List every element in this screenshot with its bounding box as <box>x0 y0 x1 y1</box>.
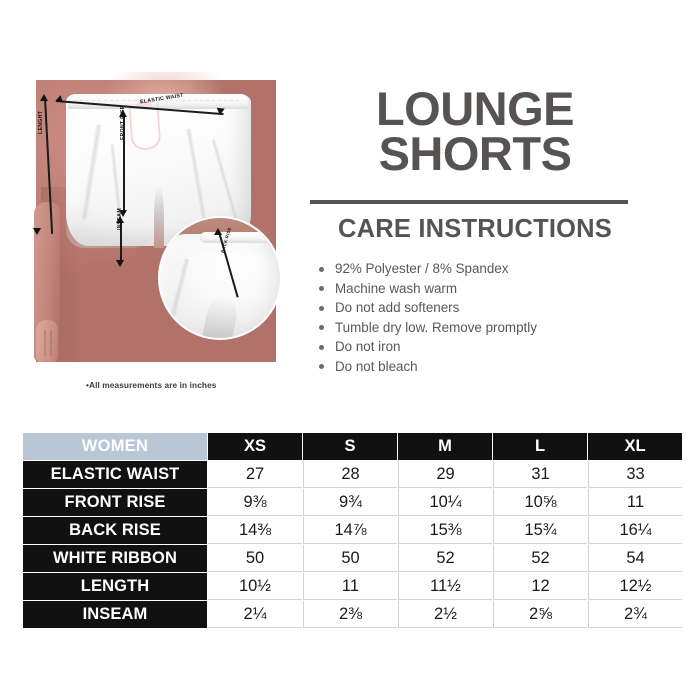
cell-back-rise-s: 14⅞ <box>303 517 397 544</box>
cell-back-rise-l: 15¾ <box>493 517 587 544</box>
care-item: 92% Polyester / 8% Spandex <box>316 259 646 279</box>
cell-elastic-waist-xl: 33 <box>588 461 682 488</box>
table-header-size-m: M <box>398 433 492 460</box>
cell-white-ribbon-xs: 50 <box>208 545 302 572</box>
drawstring-tie <box>128 103 161 151</box>
measurement-footnote: •All measurements are in inches <box>86 380 217 390</box>
care-item: Do not iron <box>316 337 646 357</box>
title-line-1: LOUNGE <box>310 86 640 131</box>
table-row: LENGTH 10½ 11 11½ 12 12½ <box>23 573 682 600</box>
cell-front-rise-l: 10⅝ <box>493 489 587 516</box>
cell-length-m: 11½ <box>398 573 492 600</box>
cell-white-ribbon-s: 50 <box>303 545 397 572</box>
row-label-white-ribbon: WHITE RIBBON <box>23 545 207 572</box>
cell-elastic-waist-xs: 27 <box>208 461 302 488</box>
cell-front-rise-xl: 11 <box>588 489 682 516</box>
cell-white-ribbon-m: 52 <box>398 545 492 572</box>
arrow-head-icon <box>40 94 48 101</box>
table-row: BACK RISE 14⅜ 14⅞ 15⅜ 15¾ 16¼ <box>23 517 682 544</box>
care-item: Machine wash warm <box>316 279 646 299</box>
table-header-size-l: L <box>493 433 587 460</box>
cell-length-xl: 12½ <box>588 573 682 600</box>
table-header-size-s: S <box>303 433 397 460</box>
measure-label-inseam: INSEAM <box>117 208 123 230</box>
row-label-inseam: INSEAM <box>23 601 207 628</box>
table-header-women: WOMEN <box>23 433 207 460</box>
measure-label-front-rise: FRONT RISE <box>120 106 126 140</box>
cell-inseam-m: 2½ <box>398 601 492 628</box>
care-item: Tumble dry low. Remove promptly <box>316 318 646 338</box>
care-item: Do not bleach <box>316 357 646 377</box>
cell-elastic-waist-s: 28 <box>303 461 397 488</box>
product-diagram: ELASTIC WAIST LENGHT FRONT RISE INSEAM <box>28 72 290 362</box>
inset-waistband <box>200 232 280 243</box>
table-header-size-xs: XS <box>208 433 302 460</box>
cell-white-ribbon-l: 52 <box>493 545 587 572</box>
size-chart-page: ELASTIC WAIST LENGHT FRONT RISE INSEAM <box>0 0 700 700</box>
cell-elastic-waist-l: 31 <box>493 461 587 488</box>
cell-inseam-xs: 2¼ <box>208 601 302 628</box>
row-label-elastic-waist: ELASTIC WAIST <box>23 461 207 488</box>
cell-inseam-s: 2⅜ <box>303 601 397 628</box>
product-title: LOUNGE SHORTS <box>310 86 640 176</box>
cell-back-rise-xl: 16¼ <box>588 517 682 544</box>
care-instructions-heading: CARE INSTRUCTIONS <box>310 215 640 244</box>
table-header-size-xl: XL <box>588 433 682 460</box>
table-header-row: WOMEN XS S M L XL <box>23 433 682 460</box>
model-hand <box>36 320 58 362</box>
size-chart-table: WOMEN XS S M L XL ELASTIC WAIST 27 28 29… <box>22 432 683 629</box>
arrow-head-icon <box>33 228 41 235</box>
table-row: FRONT RISE 9⅜ 9¾ 10¼ 10⅝ 11 <box>23 489 682 516</box>
cell-white-ribbon-xl: 54 <box>588 545 682 572</box>
row-label-back-rise: BACK RISE <box>23 517 207 544</box>
cell-front-rise-s: 9¾ <box>303 489 397 516</box>
cell-back-rise-xs: 14⅜ <box>208 517 302 544</box>
table-row: INSEAM 2¼ 2⅜ 2½ 2⅝ 2¾ <box>23 601 682 628</box>
cell-inseam-xl: 2¾ <box>588 601 682 628</box>
care-instructions-list: 92% Polyester / 8% Spandex Machine wash … <box>316 259 646 377</box>
arrow-head-icon <box>214 228 222 235</box>
shorts-left-leg <box>66 198 158 248</box>
product-photo: ELASTIC WAIST LENGHT FRONT RISE INSEAM <box>28 72 290 362</box>
cell-elastic-waist-m: 29 <box>398 461 492 488</box>
cell-front-rise-xs: 9⅜ <box>208 489 302 516</box>
table-row: WHITE RIBBON 50 50 52 52 54 <box>23 545 682 572</box>
row-label-length: LENGTH <box>23 573 207 600</box>
row-label-front-rise: FRONT RISE <box>23 489 207 516</box>
cell-length-xs: 10½ <box>208 573 302 600</box>
title-divider <box>310 200 628 204</box>
care-item: Do not add softeners <box>316 298 646 318</box>
table-row: ELASTIC WAIST 27 28 29 31 33 <box>23 461 682 488</box>
cell-length-l: 12 <box>493 573 587 600</box>
cell-inseam-l: 2⅝ <box>493 601 587 628</box>
cell-back-rise-m: 15⅜ <box>398 517 492 544</box>
arrow-head-icon <box>116 260 124 267</box>
cell-length-s: 11 <box>303 573 397 600</box>
measure-label-length: LENGHT <box>38 111 44 134</box>
cell-front-rise-m: 10¼ <box>398 489 492 516</box>
title-line-2: SHORTS <box>310 131 640 176</box>
